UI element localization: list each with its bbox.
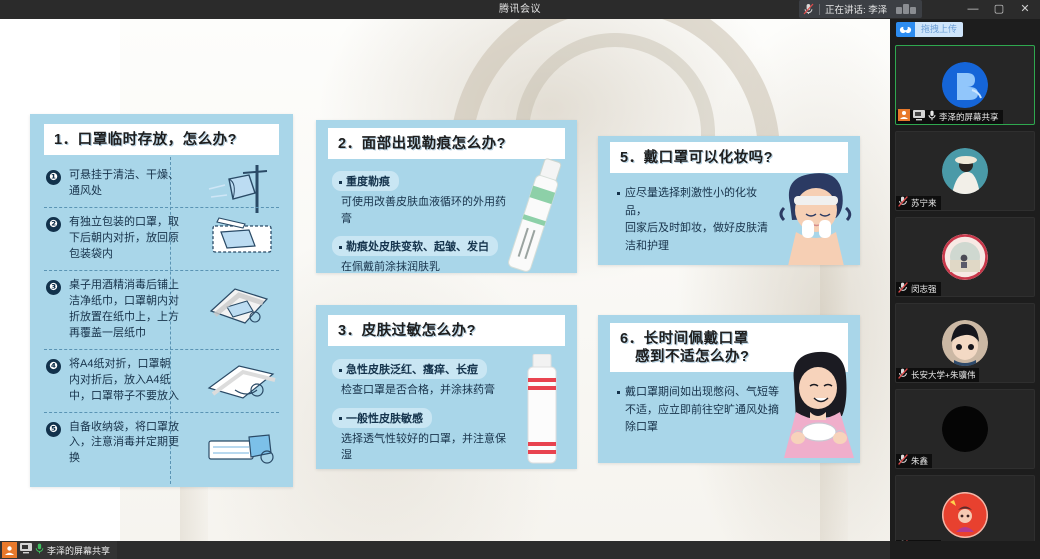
bullet-item: 急性皮肤泛红、瘙痒、长痘 检查口罩是否合格，并涂抹药膏 xyxy=(332,359,513,399)
bullet-dot-icon xyxy=(339,417,342,420)
sidebar-bottom-filler xyxy=(890,541,1040,559)
bullet-heading-text: 一般性皮肤敏感 xyxy=(346,413,423,425)
drag-upload-label: 拖拽上传 xyxy=(915,22,963,37)
participant-tile-1[interactable]: 苏宁来 xyxy=(895,131,1035,211)
avatar xyxy=(942,62,988,108)
microphone-muted-icon xyxy=(898,280,908,297)
microphone-muted-icon xyxy=(803,3,814,15)
participant-name: 李泽的屏幕共享 xyxy=(939,111,999,123)
shared-screen-area[interactable]: 1．口罩临时存放，怎么办? ❶ 可悬挂于清洁、干燥、 通风处 xyxy=(0,19,890,541)
step-number-badge: ❸ xyxy=(46,280,61,295)
participant-name-bar: 苏宁来 xyxy=(896,196,941,210)
audio-level-icon xyxy=(896,4,916,14)
tencent-meeting-window: 腾讯会议 正在讲话: 李泽 — ▢ ✕ xyxy=(0,0,1040,559)
woman-holding-mask-icon xyxy=(774,348,860,463)
step-number-badge: ❶ xyxy=(46,170,61,185)
title-bar: 腾讯会议 正在讲话: 李泽 — ▢ ✕ xyxy=(0,0,1040,19)
participant-name-bar: 长安大学+朱骥伟 xyxy=(896,368,979,382)
participant-tile-2[interactable]: 闵志强 xyxy=(895,217,1035,297)
woman-washing-face-icon xyxy=(776,166,856,265)
screen-share-icon xyxy=(913,108,925,125)
mask-hanging-icon xyxy=(205,165,279,213)
screen-share-icon xyxy=(20,541,32,559)
poster-card-2: 2．面部出现勒痕怎么办? 重度勒痕 可使用改善皮肤血液循环的外用药膏 勒痕处皮肤… xyxy=(316,120,577,273)
participant-name: 苏宁来 xyxy=(911,197,937,209)
step-text: 将A4纸对折，口罩朝 内对折后，放入A4纸 中，口罩带子不要放入 xyxy=(69,357,181,405)
step-text: 自备收纳袋，将口罩放 入，注意消毒并定期更 换 xyxy=(69,420,181,468)
person-icon xyxy=(898,108,910,125)
step-row: ❹ 将A4纸对折，口罩朝 内对折后，放入A4纸 中，口罩带子不要放入 xyxy=(44,349,279,412)
participant-name-bar: 朱鑫 xyxy=(896,454,932,468)
participant-name: 朱鑫 xyxy=(911,455,928,467)
close-button[interactable]: ✕ xyxy=(1012,0,1038,19)
bullet-item: 一般性皮肤敏感 选择透气性较好的口罩，并注意保湿 xyxy=(332,408,513,464)
bullet-heading: 急性皮肤泛红、瘙痒、长痘 xyxy=(332,359,487,379)
card-6-text: 戴口罩期间如出现憋闷、气短等 不适，应立即前往空旷通风处摘 除口罩 xyxy=(616,384,784,437)
microphone-icon xyxy=(35,541,44,559)
participant-tile-0[interactable]: 李泽的屏幕共享 xyxy=(895,45,1035,125)
bullet-subtext: 可使用改善皮肤血液循环的外用药膏 xyxy=(332,194,507,227)
avatar xyxy=(942,406,988,452)
participant-sidebar: 拖拽上传 李泽的屏幕共享 xyxy=(890,19,1040,559)
step-number-badge: ❹ xyxy=(46,359,61,374)
speaking-label: 正在讲话: 李泽 xyxy=(825,2,887,16)
avatar xyxy=(942,234,988,280)
person-icon xyxy=(2,542,17,558)
mask-in-a4-icon xyxy=(205,358,279,406)
maximize-button[interactable]: ▢ xyxy=(986,0,1012,19)
bullet-heading-text: 勒痕处皮肤变软、起皱、发白 xyxy=(346,241,489,253)
mask-in-pouch-icon xyxy=(205,423,279,471)
bullet-dot-icon xyxy=(339,181,342,184)
card-1-body: ❶ 可悬挂于清洁、干燥、 通风处 xyxy=(30,155,293,486)
poster-card-6: 6．长时间佩戴口罩 感到不适怎么办? 戴口罩期间如出现憋闷、气短等 不适，应立即… xyxy=(598,315,860,463)
bullet-subtext: 在佩戴前涂抹润肤乳 xyxy=(332,259,507,273)
mask-in-bag-icon xyxy=(205,212,279,260)
bullet-heading: 重度勒痕 xyxy=(332,171,399,191)
taskbar: 李泽的屏幕共享 xyxy=(0,541,890,559)
bullet-heading-text: 急性皮肤泛红、瘙痒、长痘 xyxy=(346,364,478,376)
step-row: ❷ 有独立包装的口罩，取 下后朝内对折，放回原 包装袋内 xyxy=(44,207,279,270)
avatar xyxy=(942,492,988,538)
step-number-badge: ❷ xyxy=(46,217,61,232)
bullet-item: 重度勒痕 可使用改善皮肤血液循环的外用药膏 xyxy=(332,171,507,227)
bullet-dot-icon xyxy=(339,246,342,249)
bullet-subtext: 选择透气性较好的口罩，并注意保湿 xyxy=(332,431,513,464)
poster-card-3: 3．皮肤过敏怎么办? 急性皮肤泛红、瘙痒、长痘 检查口罩是否合格，并涂抹药膏 一… xyxy=(316,305,577,469)
ointment-tube-icon xyxy=(497,156,575,273)
shared-screen-canvas: 1．口罩临时存放，怎么办? ❶ 可悬挂于清洁、干燥、 通风处 xyxy=(0,19,890,541)
cloud-upload-icon xyxy=(896,22,915,37)
bullet-heading: 勒痕处皮肤变软、起皱、发白 xyxy=(332,236,498,256)
cream-tube-icon xyxy=(515,354,571,469)
bullet-item: 勒痕处皮肤变软、起皱、发白 在佩戴前涂抹润肤乳 xyxy=(332,236,507,273)
drag-upload-badge[interactable]: 拖拽上传 xyxy=(896,22,963,37)
window-controls: — ▢ ✕ xyxy=(960,0,1038,19)
speaker-divider xyxy=(819,4,820,15)
card-3-title: 3．皮肤过敏怎么办? xyxy=(338,322,555,340)
step-number-badge: ❺ xyxy=(46,422,61,437)
participant-name-bar: 李泽的屏幕共享 xyxy=(896,110,1003,124)
taskbar-share-item[interactable]: 李泽的屏幕共享 xyxy=(0,541,117,559)
bullet-dot-icon xyxy=(339,369,342,372)
step-text: 可悬挂于清洁、干燥、 通风处 xyxy=(69,168,181,200)
step-text: 桌子用酒精消毒后铺上 洁净纸巾，口罩朝内对 折放置在纸巾上，上方 再覆盖一层纸巾 xyxy=(69,278,181,342)
card-5-text: 应尽量选择刺激性小的化妆品， 回家后及时卸妆，做好皮肤清 洁和护理 xyxy=(616,185,776,255)
bullet-subtext: 检查口罩是否合格，并涂抹药膏 xyxy=(332,382,513,399)
bullet-heading: 一般性皮肤敏感 xyxy=(332,408,432,428)
card-1-title: 1．口罩临时存放，怎么办? xyxy=(54,131,269,149)
participant-name: 长安大学+朱骥伟 xyxy=(911,369,975,381)
avatar xyxy=(942,320,988,366)
poster-card-1: 1．口罩临时存放，怎么办? ❶ 可悬挂于清洁、干燥、 通风处 xyxy=(30,114,293,487)
participant-tile-3[interactable]: 长安大学+朱骥伟 xyxy=(895,303,1035,383)
card-5-title: 5．戴口罩可以化妆吗? xyxy=(620,149,838,167)
taskbar-share-label: 李泽的屏幕共享 xyxy=(47,544,110,557)
step-text: 有独立包装的口罩，取 下后朝内对折，放回原 包装袋内 xyxy=(69,215,181,263)
microphone-muted-icon xyxy=(898,366,908,383)
poster-card-5: 5．戴口罩可以化妆吗? 应尽量选择刺激性小的化妆品， 回家后及时卸妆，做好皮肤清… xyxy=(598,136,860,265)
minimize-button[interactable]: — xyxy=(960,0,986,19)
step-row: ❺ 自备收纳袋，将口罩放 入，注意消毒并定期更 换 xyxy=(44,412,279,475)
mask-on-tissue-icon xyxy=(205,281,279,329)
card-3-header: 3．皮肤过敏怎么办? xyxy=(328,315,565,346)
participant-name: 闵志强 xyxy=(911,283,937,295)
participant-tile-4[interactable]: 朱鑫 xyxy=(895,389,1035,469)
card-2-header: 2．面部出现勒痕怎么办? xyxy=(328,128,565,159)
active-speaker-indicator: 正在讲话: 李泽 xyxy=(799,0,922,18)
microphone-muted-icon xyxy=(898,452,908,469)
card-2-title: 2．面部出现勒痕怎么办? xyxy=(338,135,555,153)
step-row: ❶ 可悬挂于清洁、干燥、 通风处 xyxy=(44,161,279,207)
participant-name-bar: 闵志强 xyxy=(896,282,941,296)
microphone-muted-icon xyxy=(898,194,908,211)
bullet-heading-text: 重度勒痕 xyxy=(346,176,390,188)
step-row: ❸ 桌子用酒精消毒后铺上 洁净纸巾，口罩朝内对 折放置在纸巾上，上方 再覆盖一层… xyxy=(44,270,279,349)
avatar xyxy=(942,148,988,194)
card-1-header: 1．口罩临时存放，怎么办? xyxy=(44,124,279,155)
microphone-icon xyxy=(928,108,936,125)
